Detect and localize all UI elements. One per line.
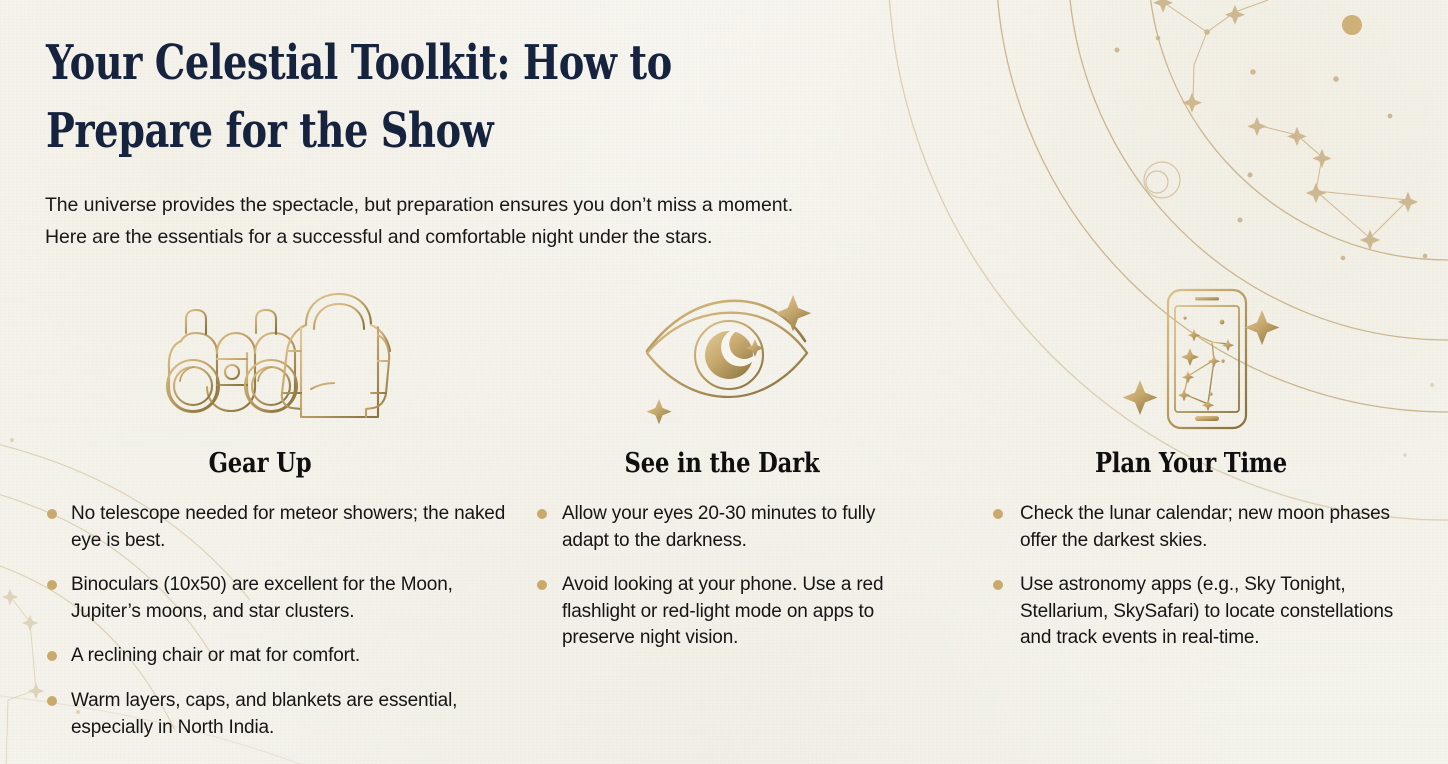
list-item: Allow your eyes 20-30 minutes to fully a… (526, 501, 926, 554)
list-item-text: Binoculars (10x50) are excellent for the… (71, 574, 453, 622)
list-item: Use astronomy apps (e.g., Sky Tonight, S… (982, 572, 1414, 652)
list-item-text: Warm layers, caps, and blankets are esse… (71, 690, 457, 738)
list-item-text: Allow your eyes 20-30 minutes to fully a… (562, 503, 875, 551)
bullet-dot-icon (47, 580, 57, 590)
bullet-dot-icon (47, 651, 57, 661)
bullet-list: Allow your eyes 20-30 minutes to fully a… (526, 501, 926, 652)
page-title: Your Celestial Toolkit: How to Prepare f… (46, 30, 766, 165)
bullet-dot-icon (993, 509, 1003, 519)
column-heading: Gear Up (72, 448, 448, 479)
constellation-top-right-a (1115, 0, 1392, 118)
planet-dot (1342, 15, 1362, 35)
page-subtitle: The universe provides the spectacle, but… (45, 190, 1115, 253)
list-item: A reclining chair or mat for comfort. (36, 643, 506, 670)
list-item: Binoculars (10x50) are excellent for the… (36, 572, 506, 625)
bullet-list: Check the lunar calendar; new moon phase… (982, 501, 1414, 652)
column-see-in-the-dark: See in the Dark Allow your eyes 20-30 mi… (526, 284, 926, 652)
bullet-list: No telescope needed for meteor showers; … (36, 501, 506, 741)
column-heading: Plan Your Time (1015, 448, 1366, 479)
list-item: Check the lunar calendar; new moon phase… (982, 501, 1414, 554)
list-item-text: A reclining chair or mat for comfort. (71, 645, 360, 666)
list-item: No telescope needed for meteor showers; … (36, 501, 506, 554)
phone-with-constellation-icon (982, 284, 1414, 434)
bullet-dot-icon (537, 509, 547, 519)
binoculars-and-jacket-icon (36, 284, 506, 434)
list-item-text: Avoid looking at your phone. Use a red f… (562, 574, 883, 648)
column-gear-up: Gear Up No telescope needed for meteor s… (36, 284, 506, 741)
puffer-jacket-glyph (281, 294, 389, 417)
eye-with-crescent-moon-icon (526, 284, 926, 434)
list-item: Warm layers, caps, and blankets are esse… (36, 688, 506, 741)
binoculars-glyph (167, 310, 297, 412)
bullet-dot-icon (993, 580, 1003, 590)
list-item-text: Check the lunar calendar; new moon phase… (1020, 503, 1390, 551)
column-heading: See in the Dark (557, 448, 886, 479)
sparkle-star-icon (1123, 310, 1280, 415)
small-rings (1144, 162, 1180, 198)
column-plan-your-time: Plan Your Time Check the lunar calendar;… (982, 284, 1414, 652)
list-item: Avoid looking at your phone. Use a red f… (526, 572, 926, 652)
list-item-text: No telescope needed for meteor showers; … (71, 503, 505, 551)
constellation-top-right-b (1238, 118, 1427, 260)
bullet-dot-icon (47, 696, 57, 706)
list-item-text: Use astronomy apps (e.g., Sky Tonight, S… (1020, 574, 1393, 648)
bullet-dot-icon (537, 580, 547, 590)
bullet-dot-icon (47, 509, 57, 519)
